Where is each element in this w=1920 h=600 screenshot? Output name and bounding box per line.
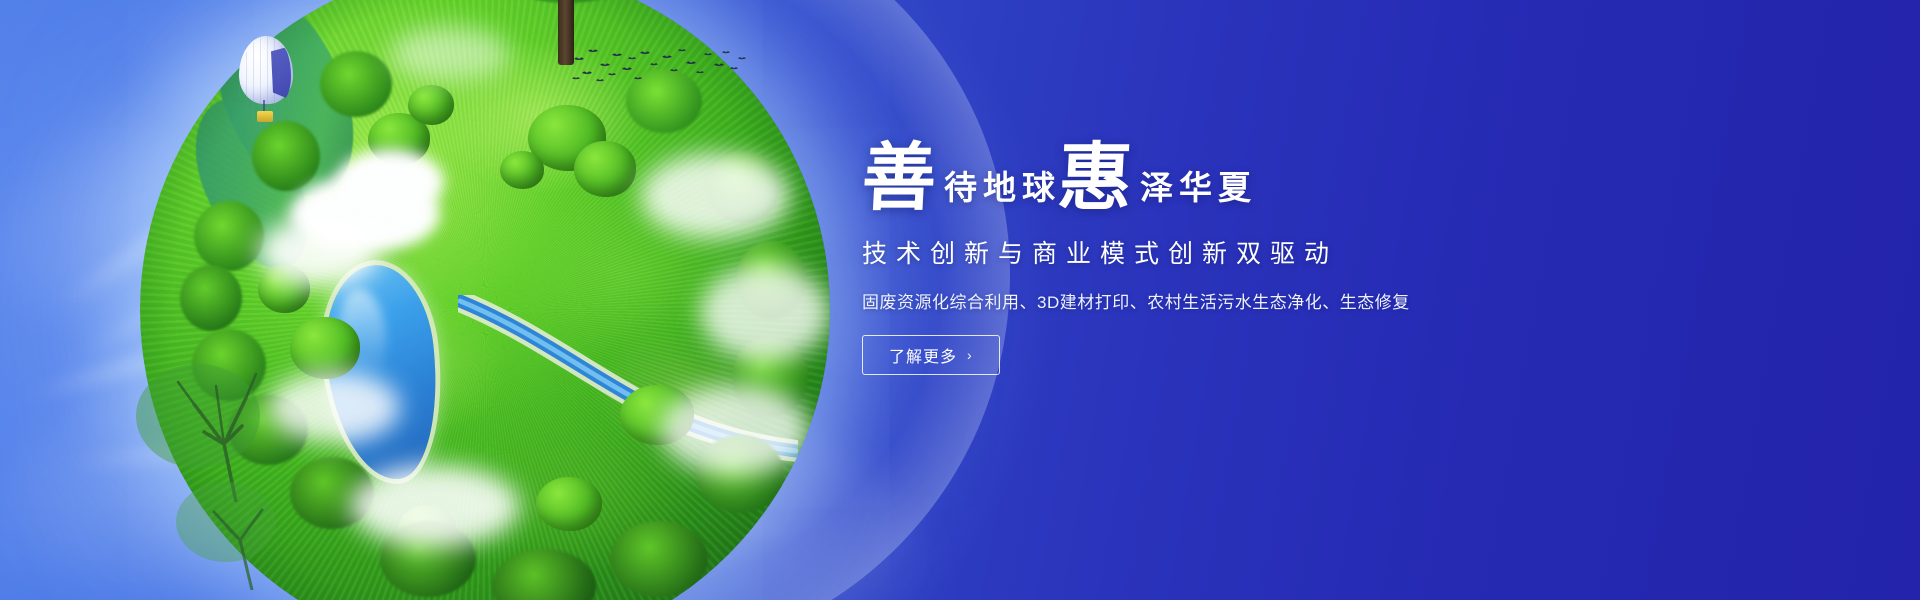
hero-content: 善 待地球 惠 泽华夏 技术创新与商业模式创新双驱动 固废资源化综合利用、3D建… — [862, 120, 1622, 375]
headline-big-1: 善 — [860, 144, 938, 212]
balloon-basket — [257, 111, 273, 122]
planet-cloud — [350, 465, 520, 547]
planet-cloud — [660, 385, 810, 475]
subtitle: 技术创新与商业模式创新双驱动 — [862, 234, 1622, 270]
tree — [156, 470, 276, 590]
headline-big-2: 惠 — [1056, 144, 1134, 212]
rim-canopy — [180, 265, 242, 331]
headline-group-2: 惠 泽华夏 — [1058, 144, 1257, 212]
headline-small-2: 泽华夏 — [1140, 171, 1257, 212]
hero-banner: 善 待地球 惠 泽华夏 技术创新与商业模式创新双驱动 固废资源化综合利用、3D建… — [0, 0, 1920, 600]
rim-canopy — [320, 51, 392, 117]
headline-group-1: 善 待地球 — [862, 144, 1061, 212]
hot-air-balloon — [239, 36, 293, 128]
rim-canopy — [610, 521, 708, 597]
bird-flock — [570, 42, 750, 100]
planet-cloud — [336, 149, 444, 215]
rim-canopy — [252, 121, 320, 191]
learn-more-label: 了解更多 — [889, 343, 957, 367]
chevron-right-icon: › — [967, 347, 973, 363]
headline-small-1: 待地球 — [944, 171, 1061, 212]
balloon-stripe — [271, 46, 291, 100]
planet-cloud — [700, 265, 830, 361]
headline: 善 待地球 惠 泽华夏 — [862, 120, 1622, 212]
planet-cloud — [268, 371, 400, 443]
planet-cloud — [640, 153, 790, 239]
rim-canopy — [194, 201, 264, 271]
learn-more-button[interactable]: 了解更多 › — [862, 335, 1000, 375]
description: 固废资源化综合利用、3D建材打印、农村生活污水生态净化、生态修复 — [862, 288, 1622, 313]
planet-cloud — [258, 217, 378, 287]
